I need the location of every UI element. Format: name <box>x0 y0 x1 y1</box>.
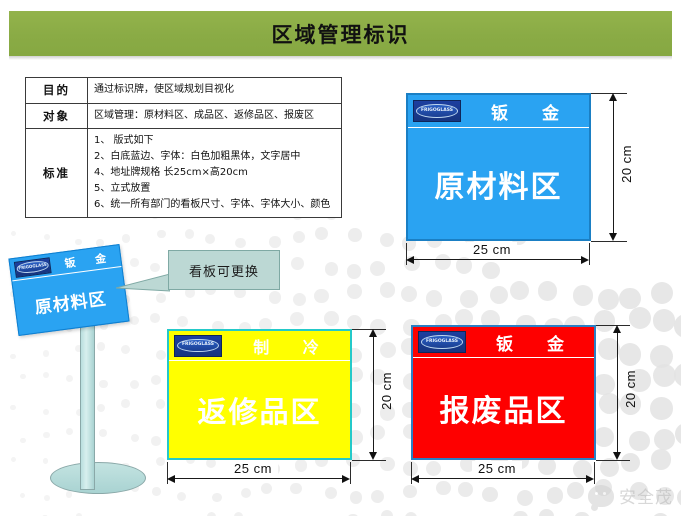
banner-shadow <box>9 56 672 60</box>
table-row: 对象 区域管理：原材料区、成品区、返修品区、报废区 <box>26 103 342 129</box>
dimension-line-vertical <box>373 331 374 458</box>
arrow-up-icon <box>613 325 621 333</box>
sign-header-text-yellow: 制 冷 <box>222 334 350 358</box>
frigoglass-logo-icon: FRIGOGLASS <box>14 257 52 278</box>
sign-board-yellow-rework: FRIGOGLASS 制 冷 返修品区 <box>167 329 352 460</box>
sign-board-red-scrap: FRIGOGLASS 钣 金 报废品区 <box>411 325 596 460</box>
extension-line <box>589 243 590 265</box>
table-row: 目的 通过标识牌，使区域规划目视化 <box>26 78 342 104</box>
arrow-down-icon <box>613 452 621 460</box>
dim-height-yellow: 20 cm <box>379 372 394 410</box>
dimension-line-vertical <box>613 95 614 239</box>
sign-body-text-red: 报废品区 <box>440 386 568 430</box>
page-title: 区域管理标识 <box>272 19 410 49</box>
standard-item: 2、白底蓝边、字体：白色加粗黑体，文字居中 <box>94 149 335 165</box>
dimension-line-vertical <box>617 327 618 458</box>
dim-width-blue: 25 cm <box>467 242 517 257</box>
sign-base <box>50 462 146 494</box>
row-value-purpose: 通过标识牌，使区域规划目视化 <box>88 78 342 104</box>
extension-line <box>350 462 351 484</box>
dim-height-blue: 20 cm <box>619 145 634 183</box>
sign-header-text-red: 钣 金 <box>466 330 594 355</box>
sign-body-yellow: 返修品区 <box>169 361 350 458</box>
sign-body-text-yellow: 返修品区 <box>197 389 321 431</box>
sign-header-text-blue: 钣 金 <box>461 99 589 124</box>
extension-line <box>596 460 630 461</box>
dim-width-yellow: 25 cm <box>228 461 278 476</box>
extension-line <box>594 462 595 484</box>
dim-width-red: 25 cm <box>472 461 522 476</box>
arrow-right-icon <box>581 256 589 264</box>
arrow-up-icon <box>369 329 377 337</box>
spec-table: 目的 通过标识牌，使区域规划目视化 对象 区域管理：原材料区、成品区、返修品区、… <box>25 77 342 218</box>
table-row: 标准 1、 版式如下2、白底蓝边、字体：白色加粗黑体，文字居中4、地址牌规格 长… <box>26 129 342 218</box>
row-label-target: 对象 <box>26 103 88 129</box>
sign-body-blue: 原材料区 <box>408 128 589 239</box>
standard-item: 4、地址牌规格 长25cm×高20cm <box>94 165 335 181</box>
row-label-purpose: 目的 <box>26 78 88 104</box>
standing-sign-board: FRIGOGLASS 钣 金 原材料区 <box>8 244 129 336</box>
arrow-left-icon <box>411 475 419 483</box>
frigoglass-logo-icon: FRIGOGLASS <box>418 331 466 353</box>
arrow-down-icon <box>369 452 377 460</box>
arrow-left-icon <box>167 475 175 483</box>
frigoglass-logo-icon: FRIGOGLASS <box>174 335 222 357</box>
arrow-down-icon <box>609 233 617 241</box>
arrow-left-icon <box>406 256 414 264</box>
standing-sign-body-text: 原材料区 <box>33 284 108 318</box>
standard-item: 6、统一所有部门的看板尺寸、字体、字体大小、颜色 <box>94 197 335 213</box>
row-value-target: 区域管理：原材料区、成品区、返修品区、报废区 <box>88 103 342 129</box>
sign-body-red: 报废品区 <box>413 358 594 458</box>
standard-item: 1、 版式如下 <box>94 133 335 149</box>
sign-header-red: FRIGOGLASS 钣 金 <box>413 327 594 358</box>
standard-list: 1、 版式如下2、白底蓝边、字体：白色加粗黑体，文字居中4、地址牌规格 长25c… <box>94 133 335 213</box>
arrow-right-icon <box>586 475 594 483</box>
row-label-standard: 标准 <box>26 129 88 218</box>
sign-header-yellow: FRIGOGLASS 制 冷 <box>169 331 350 361</box>
page-header-banner: 区域管理标识 <box>9 11 672 56</box>
watermark-text: 安全茂 <box>619 483 673 508</box>
frigoglass-logo-icon: FRIGOGLASS <box>413 100 461 122</box>
wechat-icon <box>588 485 614 507</box>
extension-line <box>352 460 386 461</box>
callout-text: 看板可更换 <box>189 261 259 280</box>
extension-line <box>591 241 627 242</box>
sign-board-blue-raw-material: FRIGOGLASS 钣 金 原材料区 <box>406 93 591 241</box>
dim-height-red: 20 cm <box>623 370 638 408</box>
arrow-up-icon <box>609 93 617 101</box>
dimension-line-horizontal <box>169 478 348 479</box>
dimension-line-horizontal <box>413 478 592 479</box>
slide-root: 区域管理标识 目的 通过标识牌，使区域规划目视化 对象 区域管理：原材料区、成品… <box>0 0 681 516</box>
sign-header-blue: FRIGOGLASS 钣 金 <box>408 95 589 128</box>
dimension-line-horizontal <box>408 259 587 260</box>
callout-pointer-icon <box>116 272 170 292</box>
watermark: 安全茂 <box>588 483 673 508</box>
callout-bubble: 看板可更换 <box>168 250 280 290</box>
sign-body-text-blue: 原材料区 <box>435 162 563 206</box>
arrow-right-icon <box>342 475 350 483</box>
row-value-standard: 1、 版式如下2、白底蓝边、字体：白色加粗黑体，文字居中4、地址牌规格 长25c… <box>88 129 342 218</box>
standard-item: 5、立式放置 <box>94 181 335 197</box>
